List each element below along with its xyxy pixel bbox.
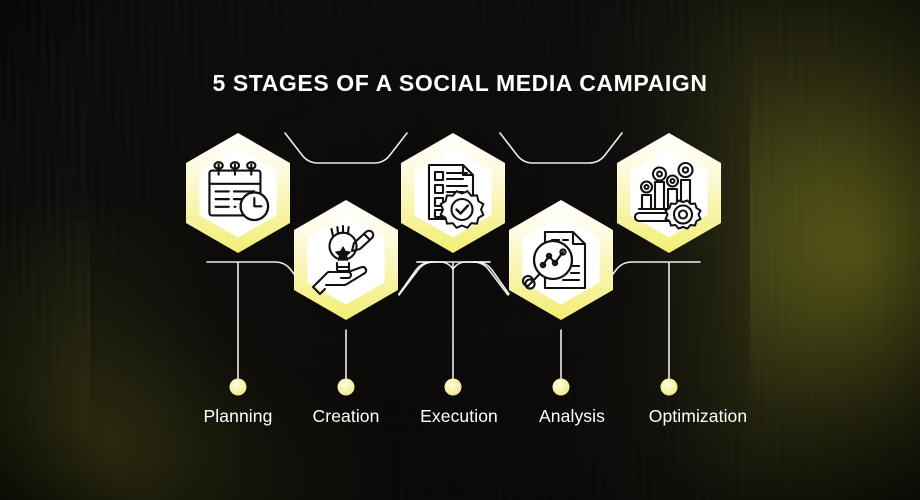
connector-bottom-hex3-right bbox=[473, 262, 508, 295]
stage-label-creation: Creation bbox=[313, 406, 380, 427]
stage-dots-group bbox=[230, 379, 678, 396]
connector-bottom-hex3-left bbox=[399, 262, 434, 295]
stage-hexagon-1[interactable] bbox=[186, 133, 290, 253]
stage-label-analysis: Analysis bbox=[539, 406, 605, 427]
stage-hexagon-2[interactable] bbox=[294, 200, 398, 320]
stage-label-execution: Execution bbox=[420, 406, 498, 427]
stage-label-optimization: Optimization bbox=[649, 406, 747, 427]
stage-hexagon-4[interactable] bbox=[509, 200, 613, 320]
stage-dot-5[interactable] bbox=[661, 379, 678, 396]
stage-dot-1[interactable] bbox=[230, 379, 247, 396]
stage-hexagon-5[interactable] bbox=[617, 133, 721, 253]
stage-dot-4[interactable] bbox=[553, 379, 570, 396]
stage-dot-2[interactable] bbox=[338, 379, 355, 396]
connector-top-1-2 bbox=[285, 133, 407, 163]
stage-dot-3[interactable] bbox=[445, 379, 462, 396]
infographic-canvas: 5 STAGES OF A SOCIAL MEDIA CAMPAIGN bbox=[0, 0, 920, 500]
connector-top-3-4 bbox=[500, 133, 622, 163]
stage-hexagon-3[interactable] bbox=[401, 133, 505, 253]
stage-label-planning: Planning bbox=[204, 406, 273, 427]
